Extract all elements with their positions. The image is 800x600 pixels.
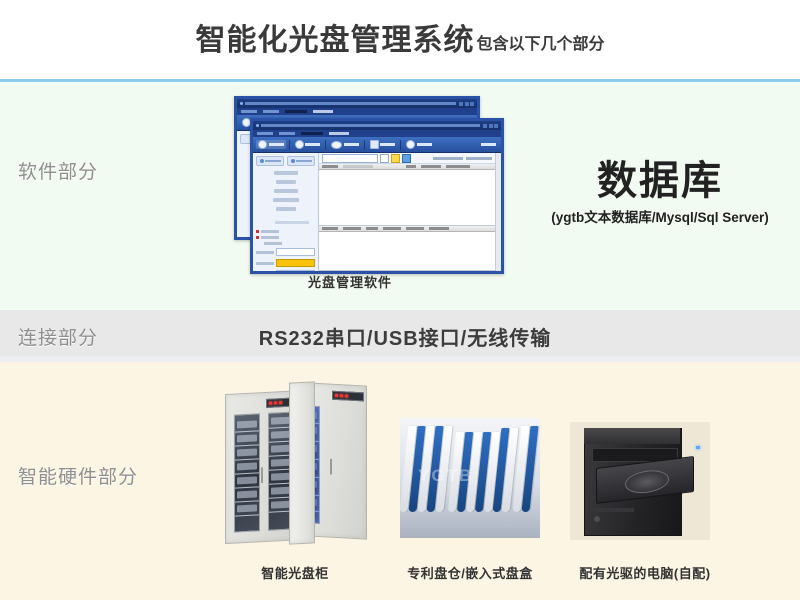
section-label-software: 软件部分 xyxy=(18,157,98,184)
power-button[interactable] xyxy=(594,516,600,522)
window-titlebar xyxy=(237,99,477,108)
window-title-text xyxy=(245,102,456,105)
menu-item-selected[interactable] xyxy=(301,132,323,135)
menu-item[interactable] xyxy=(279,132,295,135)
menu-item[interactable] xyxy=(313,110,333,113)
settings-icon xyxy=(370,140,379,149)
pc-front-slot xyxy=(594,508,634,512)
toolbar-button xyxy=(293,140,323,149)
app-icon xyxy=(240,102,243,105)
side-tab-1[interactable] xyxy=(256,156,284,166)
menu-item[interactable] xyxy=(241,110,257,113)
caption-disc-magazine: 专利盘仓/嵌入式盘盒 xyxy=(390,563,550,582)
window-menubar[interactable] xyxy=(237,108,477,115)
watermark-text: YGTB xyxy=(418,466,473,486)
power-led-icon xyxy=(696,446,700,449)
status-group xyxy=(433,157,492,160)
toolbar-button-active xyxy=(256,140,286,149)
required-marker xyxy=(256,230,259,233)
close-icon[interactable] xyxy=(470,102,474,106)
refresh-icon[interactable] xyxy=(402,154,411,163)
side-list-item[interactable] xyxy=(274,189,298,193)
cabinet-right-body xyxy=(307,382,367,539)
window-controls[interactable] xyxy=(483,124,498,128)
caption-smart-disc-cabinet: 智能光盘柜 xyxy=(215,563,375,582)
cabinet-middle-panel xyxy=(289,381,315,544)
highlighted-input[interactable] xyxy=(276,259,315,267)
side-list-item[interactable] xyxy=(274,171,298,175)
vertical-scrollbar[interactable] xyxy=(495,153,501,271)
side-field-row xyxy=(256,242,315,245)
table-body-lower[interactable] xyxy=(319,232,495,271)
minimize-icon[interactable] xyxy=(483,124,487,128)
app-icon xyxy=(256,124,259,127)
software-screenshot-cluster xyxy=(228,96,518,271)
section-label-connection: 连接部分 xyxy=(18,323,98,350)
side-list-item[interactable] xyxy=(276,180,296,184)
window-toolbar[interactable] xyxy=(253,137,501,153)
menu-item[interactable] xyxy=(257,132,273,135)
led-display xyxy=(332,391,364,402)
window-titlebar xyxy=(253,121,501,130)
folder-icon[interactable] xyxy=(391,154,400,163)
close-icon[interactable] xyxy=(494,124,498,128)
toolbar-button xyxy=(329,141,361,149)
window-title-text xyxy=(261,124,480,127)
pc-case-top xyxy=(584,428,680,444)
disc-out-icon xyxy=(295,140,304,149)
status-text xyxy=(466,157,492,160)
table-body-upper[interactable] xyxy=(319,170,495,226)
toolbar-button xyxy=(404,140,434,149)
window-menubar[interactable] xyxy=(253,130,501,137)
side-panel[interactable] xyxy=(253,153,319,271)
cabinet-handle xyxy=(330,459,332,475)
section-label-hardware: 智能硬件部分 xyxy=(18,462,138,489)
cabinet-door-glass-left xyxy=(234,413,260,532)
page-title: 智能化光盘管理系统 xyxy=(195,26,474,56)
database-subtitle: (ygtb文本数据库/Mysql/Sql Server) xyxy=(520,206,800,226)
side-field-row xyxy=(256,230,315,233)
toolbar-right-group xyxy=(481,143,498,146)
side-list-item[interactable] xyxy=(273,198,299,202)
search-input[interactable] xyxy=(322,154,378,163)
menu-item-selected[interactable] xyxy=(285,110,307,113)
side-tab-2[interactable] xyxy=(287,156,315,166)
menu-item[interactable] xyxy=(263,110,279,113)
maximize-icon[interactable] xyxy=(465,102,469,106)
cabinet-handle xyxy=(261,467,263,483)
toolbar-button xyxy=(368,140,398,149)
side-list-item[interactable] xyxy=(276,207,296,211)
photo-smart-disc-cabinet xyxy=(215,378,375,550)
search-bar[interactable] xyxy=(319,153,495,164)
disc-query-icon xyxy=(331,141,342,149)
disc-in-icon xyxy=(258,140,267,149)
menu-item[interactable] xyxy=(329,132,349,135)
side-field-row xyxy=(256,236,315,239)
maximize-icon[interactable] xyxy=(489,124,493,128)
side-hint-text xyxy=(275,221,309,224)
photo-pc-with-optical-drive xyxy=(570,422,710,540)
page-subtitle: 包含以下几个部分 xyxy=(476,37,604,53)
database-block: 数据库 (ygtb文本数据库/Mysql/Sql Server) xyxy=(520,160,800,226)
side-input-row xyxy=(256,259,315,267)
database-title: 数据库 xyxy=(520,160,800,202)
text-input[interactable] xyxy=(276,248,315,256)
side-input-row xyxy=(256,248,315,256)
caption-pc-with-optical-drive: 配有光驱的电脑(自配) xyxy=(560,563,730,582)
tab-icon xyxy=(291,159,295,163)
connection-text: RS232串口/USB接口/无线传输 xyxy=(230,322,580,351)
tab-icon xyxy=(260,159,264,163)
window-controls[interactable] xyxy=(459,102,474,106)
status-text xyxy=(433,157,463,160)
header: 智能化光盘管理系统 包含以下几个部分 xyxy=(0,0,800,81)
minimize-icon[interactable] xyxy=(459,102,463,106)
search-icon xyxy=(406,140,415,149)
software-caption: 光盘管理软件 xyxy=(230,272,470,291)
app-window-front[interactable] xyxy=(250,118,504,274)
required-marker xyxy=(256,236,259,239)
main-panel xyxy=(319,153,495,271)
search-icon[interactable] xyxy=(380,154,389,163)
photo-disc-magazine: YGTB xyxy=(400,418,540,538)
window-body xyxy=(253,153,501,271)
disc-spindle xyxy=(625,468,669,495)
infographic-page: 智能化光盘管理系统 包含以下几个部分 软件部分 xyxy=(0,0,800,600)
